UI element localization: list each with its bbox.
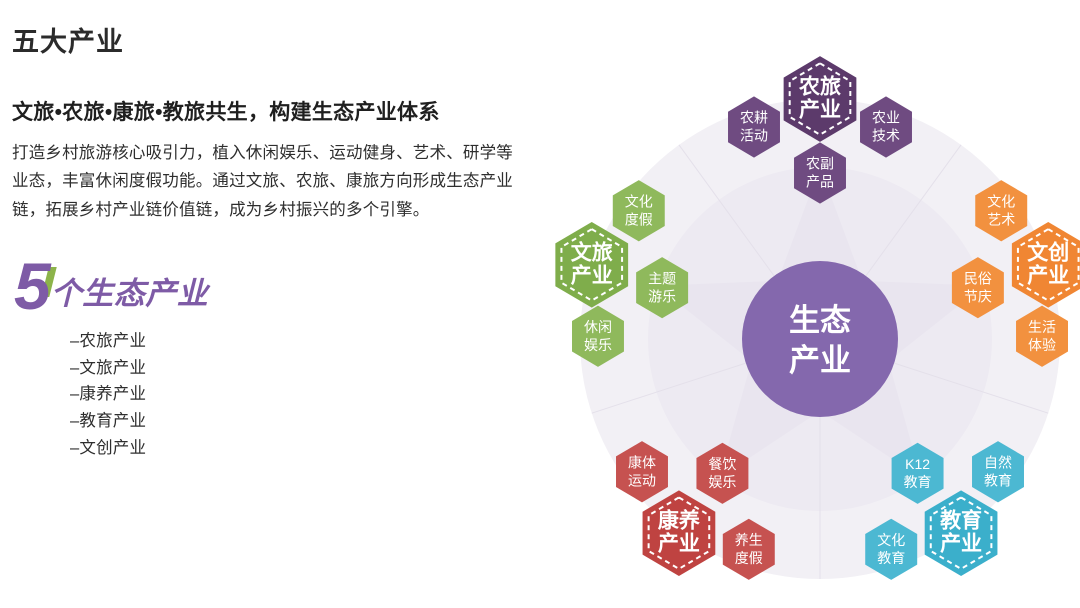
five-heading-text: 个生态产业 <box>51 278 209 313</box>
sub-hex-label: 文化 <box>877 532 905 548</box>
sub-hex-label: K12 <box>905 456 930 472</box>
sub-hex-label: 节庆 <box>964 288 992 304</box>
sub-hex-label: 活动 <box>740 128 768 144</box>
section-subtitle: 文旅•农旅•康旅•教旅共生，构建生态产业体系 <box>12 100 552 125</box>
center-circle[interactable] <box>742 261 898 417</box>
sub-hex-label: 娱乐 <box>708 474 736 490</box>
sub-hex-label: 养生 <box>735 532 763 548</box>
sub-hex-label: 度假 <box>735 550 763 566</box>
main-hex-label: 文创 <box>1027 240 1069 264</box>
sub-hex-label: 教育 <box>984 472 1012 488</box>
sub-hex-label: 文化 <box>625 193 653 209</box>
sub-hex-label: 产品 <box>806 174 834 190</box>
five-industries-heading: 5 个生态产业 <box>14 255 208 313</box>
sub-hex-label: 农耕 <box>740 110 768 126</box>
industry-wheel-svg: 农耕活动农业技术农副产品农旅产业文化艺术生活体验民俗节庆文创产业自然教育文化教育… <box>548 0 1080 608</box>
sub-hex-label: 康体 <box>628 454 656 470</box>
main-hex-label: 农旅 <box>798 75 841 99</box>
sub-hex-label: 教育 <box>904 474 932 490</box>
sub-hex-label: 度假 <box>625 211 653 227</box>
five-industries-list: –农旅产业 –文旅产业 –康养产业 –教育产业 –文创产业 <box>70 328 146 462</box>
list-item: –农旅产业 <box>70 328 146 355</box>
sub-hex-label: 农副 <box>806 156 834 172</box>
list-item: –教育产业 <box>70 408 146 435</box>
sub-hex-label: 运动 <box>628 472 656 488</box>
main-hex-label: 文旅 <box>571 240 613 264</box>
main-hex-label: 产业 <box>1027 263 1069 287</box>
sub-hex-label: 主题 <box>648 270 676 286</box>
main-hex-label: 产业 <box>571 263 613 287</box>
sub-hex-label: 艺术 <box>987 211 1015 227</box>
sub-hex-label: 教育 <box>877 550 905 566</box>
main-hex-label: 教育 <box>940 509 982 533</box>
sub-hex-label: 文化 <box>987 193 1015 209</box>
center-label: 产业 <box>789 343 851 378</box>
text-column: 五大产业 文旅•农旅•康旅•教旅共生，构建生态产业体系 打造乡村旅游核心吸引力，… <box>12 28 552 224</box>
body-paragraph: 打造乡村旅游核心吸引力，植入休闲娱乐、运动健身、艺术、研学等业态，丰富休闲度假功… <box>12 139 527 224</box>
sub-hex-label: 餐饮 <box>708 456 736 472</box>
sub-hex-label: 娱乐 <box>584 337 612 353</box>
sub-hex-label: 休闲 <box>584 319 612 335</box>
sub-hex-label: 生活 <box>1028 319 1056 335</box>
sub-hex-label: 体验 <box>1028 337 1056 353</box>
main-hex-label: 产业 <box>940 532 982 556</box>
sub-hex-label: 自然 <box>984 454 1012 470</box>
page-title: 五大产业 <box>12 28 552 58</box>
main-hex-label: 产业 <box>658 532 700 556</box>
industry-wheel-diagram: 农耕活动农业技术农副产品农旅产业文化艺术生活体验民俗节庆文创产业自然教育文化教育… <box>548 0 1080 608</box>
main-hex-label: 康养 <box>658 509 700 533</box>
five-number: 5 <box>14 259 49 313</box>
list-item: –文创产业 <box>70 435 146 462</box>
sub-hex-label: 游乐 <box>648 288 676 304</box>
sub-hex-label: 农业 <box>872 110 900 126</box>
main-hex-label: 产业 <box>799 98 841 122</box>
center-label: 生态 <box>789 303 851 338</box>
list-item: –文旅产业 <box>70 355 146 382</box>
list-item: –康养产业 <box>70 381 146 408</box>
sub-hex-label: 民俗 <box>964 270 992 286</box>
sub-hex-label: 技术 <box>872 128 900 144</box>
